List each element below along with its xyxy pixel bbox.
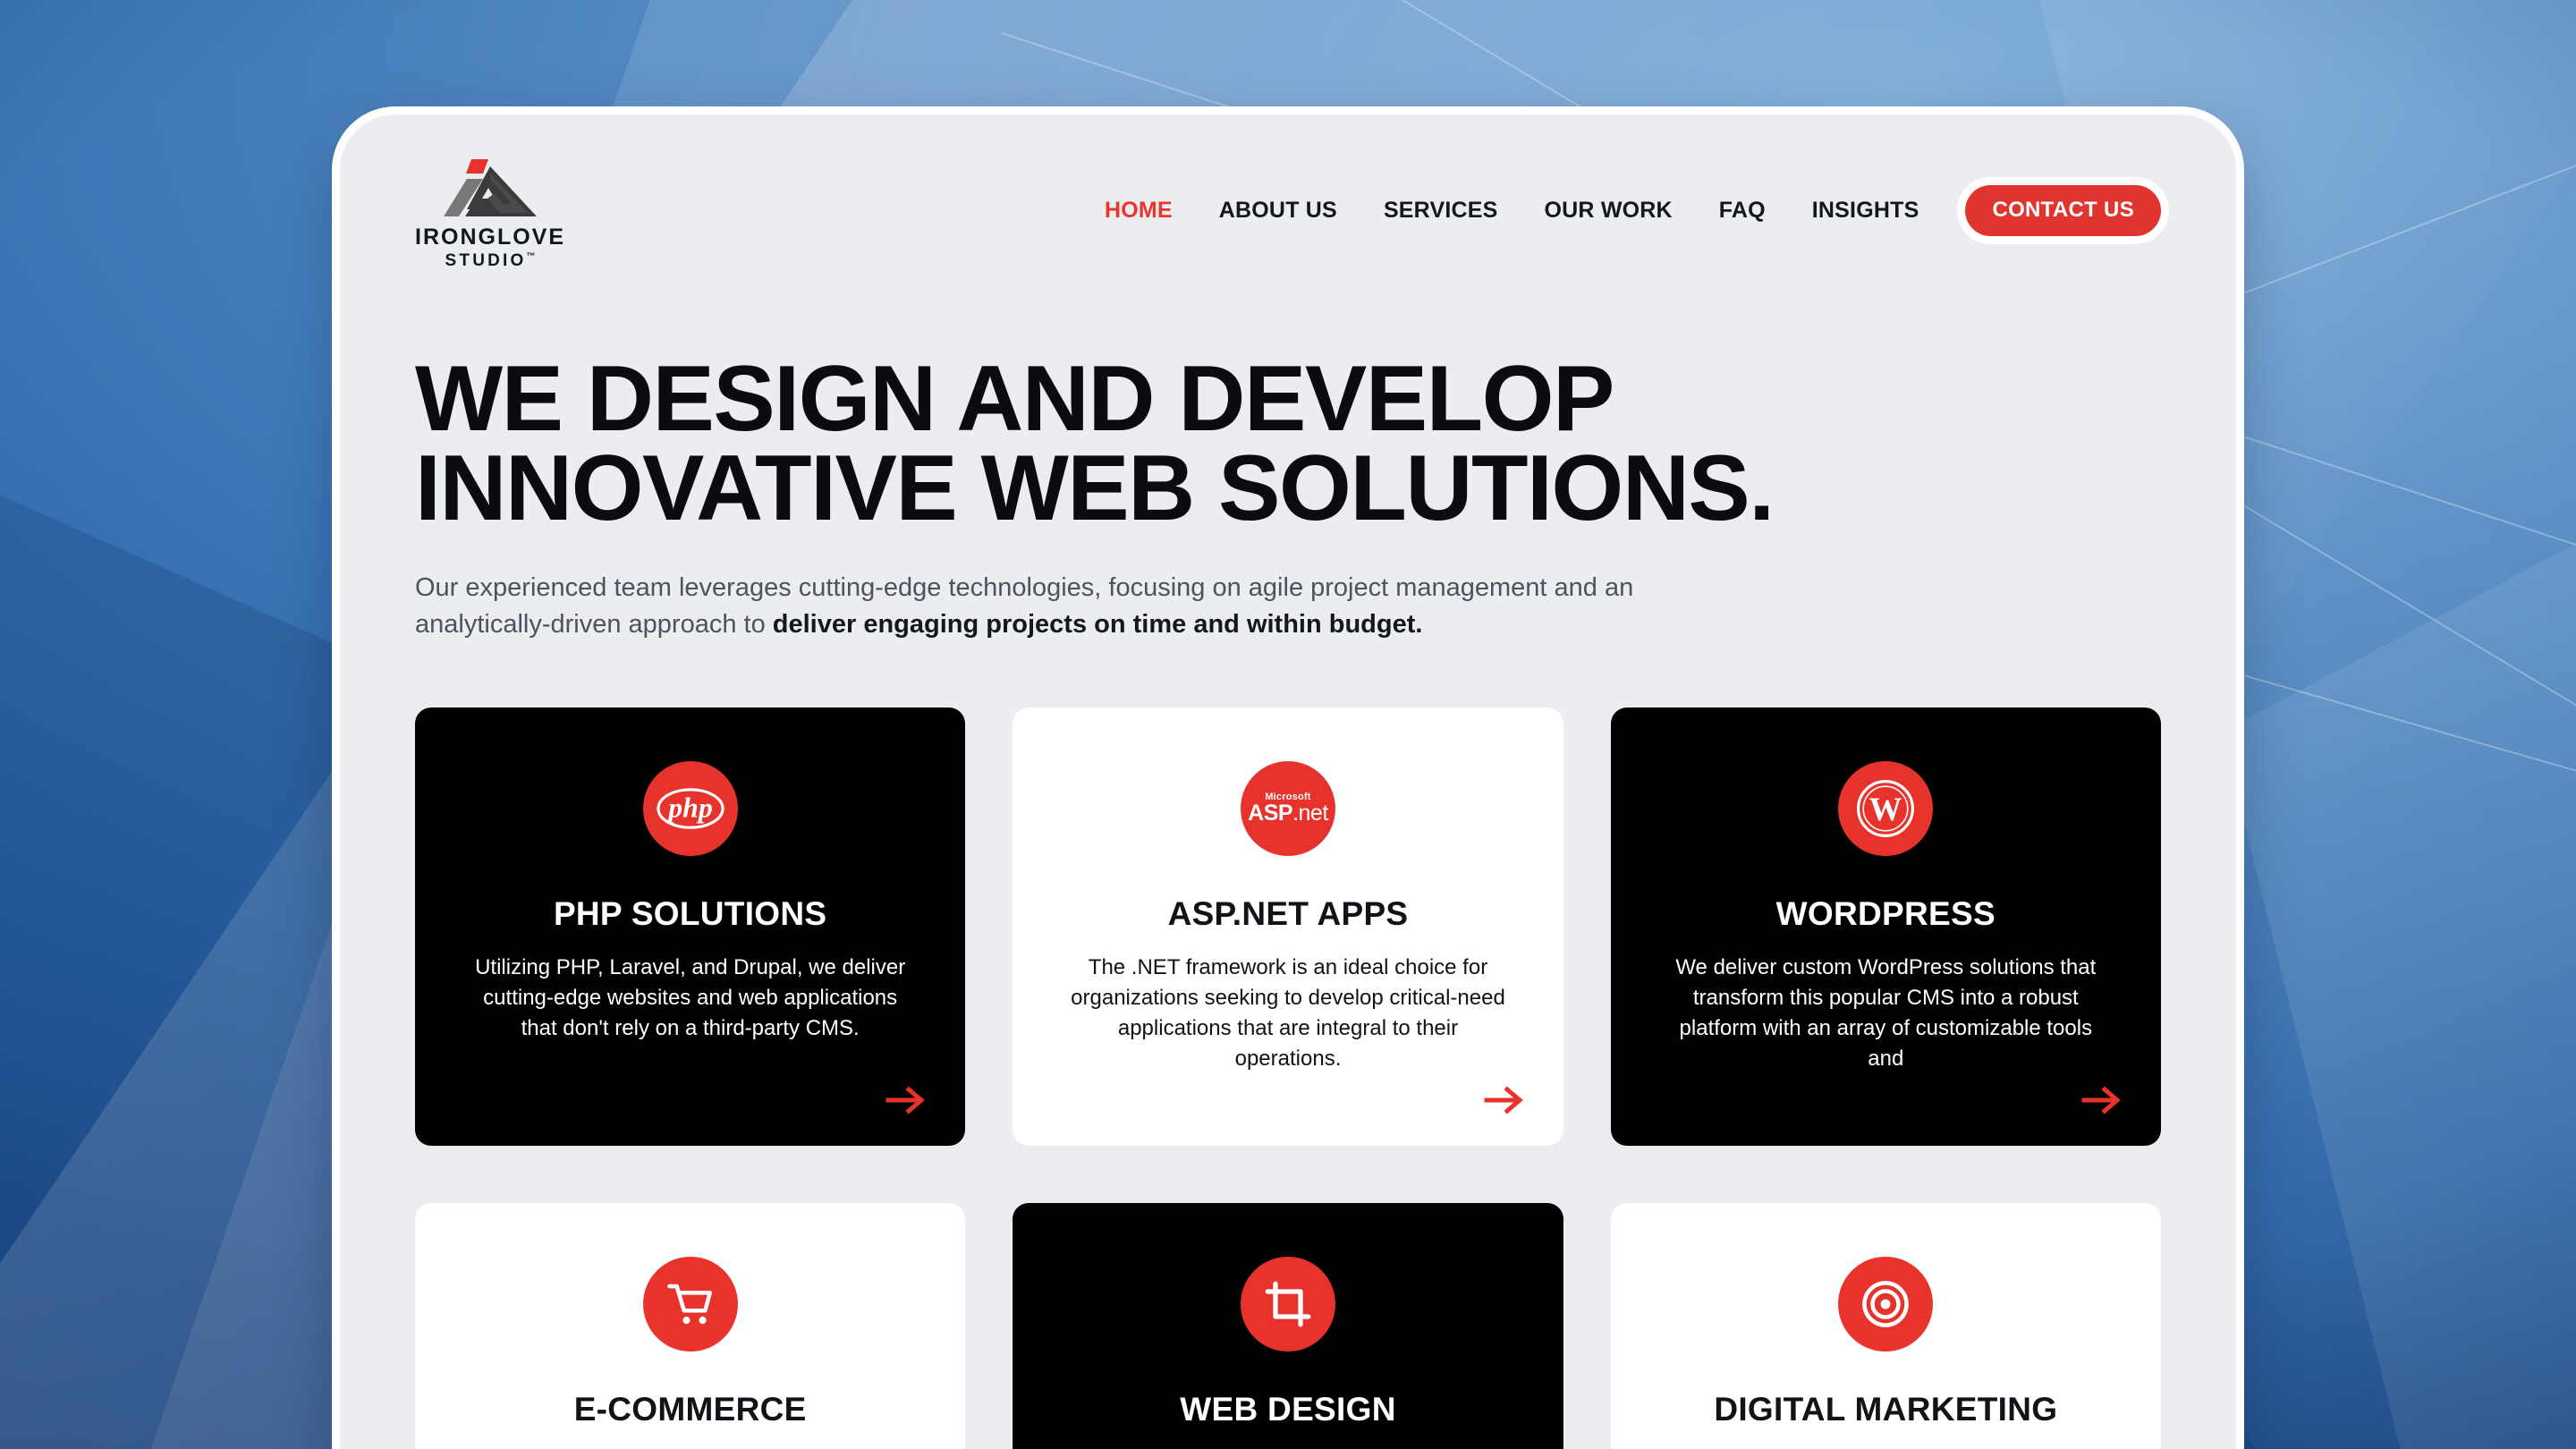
aspnet-logo-glyph: Microsoft ASP.net bbox=[1248, 792, 1328, 825]
service-title: WEB DESIGN bbox=[1180, 1391, 1395, 1428]
wordpress-logo-glyph: W bbox=[1850, 773, 1921, 844]
nav-item-services[interactable]: SERVICES bbox=[1360, 198, 1521, 224]
wordpress-icon: W bbox=[1838, 761, 1933, 856]
service-title: ASP.NET APPS bbox=[1168, 895, 1409, 933]
brand-wordmark: IRONGLOVE STUDIO™ bbox=[415, 226, 565, 269]
contact-us-button[interactable]: CONTACT US bbox=[1965, 185, 2161, 236]
crop-tool-icon bbox=[1241, 1257, 1335, 1352]
service-card-wordpress[interactable]: W WORDPRESS We deliver custom WordPress … bbox=[1611, 708, 2161, 1146]
php-icon: php bbox=[643, 761, 738, 856]
svg-text:php: php bbox=[665, 792, 712, 824]
service-description: Utilizing PHP, Laravel, and Drupal, we d… bbox=[467, 953, 914, 1044]
nav-item-about-us[interactable]: ABOUT US bbox=[1196, 198, 1360, 224]
svg-text:W: W bbox=[1869, 791, 1902, 827]
crop-tool-glyph bbox=[1263, 1279, 1313, 1329]
brand-name-line1: IRONGLOVE bbox=[415, 226, 565, 249]
service-title: PHP SOLUTIONS bbox=[554, 895, 826, 933]
arrow-right-icon[interactable] bbox=[2080, 1085, 2125, 1115]
target-icon bbox=[1838, 1257, 1933, 1352]
aspnet-icon: Microsoft ASP.net bbox=[1241, 761, 1335, 856]
trademark-symbol: ™ bbox=[527, 252, 536, 262]
service-title: DIGITAL MARKETING bbox=[1714, 1391, 2057, 1428]
service-card-web-design[interactable]: WEB DESIGN Ditch the cookie-cutter templ… bbox=[1013, 1203, 1563, 1449]
ironglove-triangle-mark bbox=[444, 152, 537, 220]
nav-item-our-work[interactable]: OUR WORK bbox=[1521, 198, 1696, 224]
service-description: The .NET framework is an ideal choice fo… bbox=[1064, 953, 1512, 1074]
main-navigation: HOME ABOUT US SERVICES OUR WORK FAQ INSI… bbox=[1081, 185, 2161, 236]
website-window: IRONGLOVE STUDIO™ HOME ABOUT US SERVICES… bbox=[340, 114, 2236, 1449]
service-card-ecommerce[interactable]: E-COMMERCE We harness the potential of bbox=[415, 1203, 965, 1449]
nav-item-home[interactable]: HOME bbox=[1081, 198, 1196, 224]
brand-name-line2: STUDIO™ bbox=[445, 252, 536, 269]
arrow-right-icon[interactable] bbox=[1483, 1085, 1528, 1115]
nav-item-insights[interactable]: INSIGHTS bbox=[1789, 198, 1943, 224]
service-card-aspnet[interactable]: Microsoft ASP.net ASP.NET APPS The .NET … bbox=[1013, 708, 1563, 1146]
aspnet-name-label: ASP.net bbox=[1248, 802, 1328, 825]
hero-section: WE DESIGN AND DEVELOP INNOVATIVE WEB SOL… bbox=[340, 269, 2236, 643]
target-glyph bbox=[1860, 1278, 1911, 1330]
shopping-cart-glyph bbox=[665, 1278, 716, 1330]
hero-subtitle-bold: deliver engaging projects on time and wi… bbox=[773, 610, 1423, 639]
service-card-digital-marketing[interactable]: DIGITAL MARKETING We provide analytic-ba… bbox=[1611, 1203, 2161, 1449]
site-header: IRONGLOVE STUDIO™ HOME ABOUT US SERVICES… bbox=[340, 114, 2236, 269]
services-grid: php PHP SOLUTIONS Utilizing PHP, Laravel… bbox=[340, 708, 2236, 1449]
hero-subtitle: Our experienced team leverages cutting-e… bbox=[415, 570, 1640, 643]
arrow-right-icon[interactable] bbox=[885, 1085, 929, 1115]
page-title: WE DESIGN AND DEVELOP INNOVATIVE WEB SOL… bbox=[415, 355, 2016, 534]
php-logo-glyph: php bbox=[643, 761, 738, 856]
service-card-php[interactable]: php PHP SOLUTIONS Utilizing PHP, Laravel… bbox=[415, 708, 965, 1146]
service-description: We deliver custom WordPress solutions th… bbox=[1662, 953, 2109, 1074]
shopping-cart-icon bbox=[643, 1257, 738, 1352]
nav-item-faq[interactable]: FAQ bbox=[1696, 198, 1789, 224]
service-title: E-COMMERCE bbox=[574, 1391, 807, 1428]
service-title: WORDPRESS bbox=[1776, 895, 1996, 933]
brand-logo[interactable]: IRONGLOVE STUDIO™ bbox=[415, 152, 565, 269]
